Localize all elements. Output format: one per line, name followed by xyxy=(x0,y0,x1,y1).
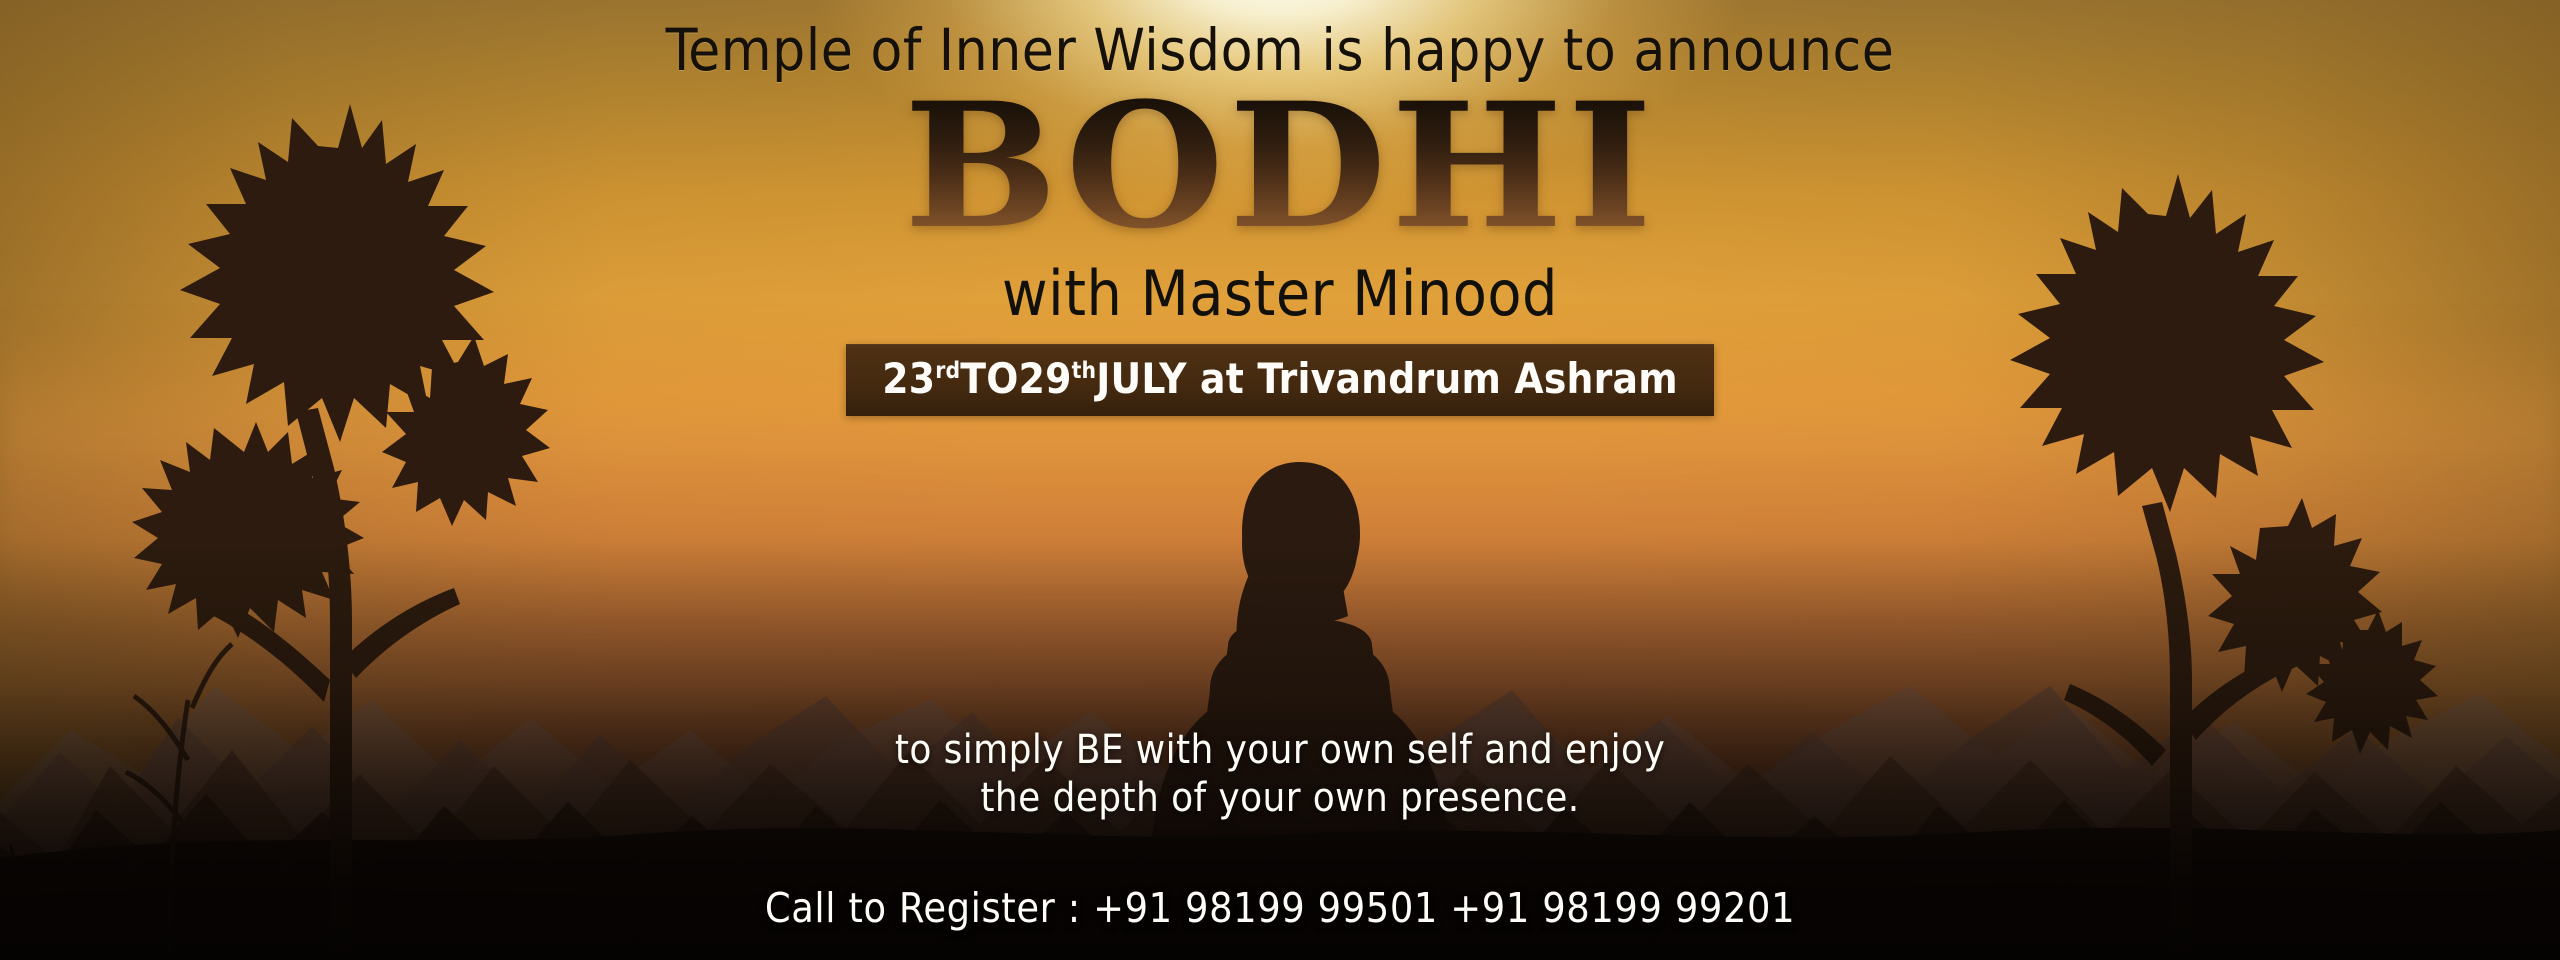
tagline-line-1: to simply BE with your own self and enjo… xyxy=(0,726,2560,774)
event-banner: Temple of Inner Wisdom is happy to annou… xyxy=(0,0,2560,960)
date-location: JULY at Trivandrum Ashram xyxy=(1096,354,1678,403)
event-subtitle: with Master Minood xyxy=(1002,257,1558,330)
tagline-line-2: the depth of your own presence. xyxy=(0,774,2560,822)
event-tagline: to simply BE with your own self and enjo… xyxy=(0,726,2560,822)
event-title: BODHI xyxy=(903,78,1656,253)
date-separator: TO xyxy=(960,354,1018,403)
date-to-ordinal: th xyxy=(1072,358,1097,384)
date-location-strip: 23 rd TO 29 th JULY at Trivandrum Ashram xyxy=(846,344,1714,416)
date-to: 29 xyxy=(1019,354,1072,403)
date-from: 23 xyxy=(882,354,935,403)
registration-contact: Call to Register : +91 98199 99501 +91 9… xyxy=(0,884,2560,932)
date-from-ordinal: rd xyxy=(935,358,960,384)
